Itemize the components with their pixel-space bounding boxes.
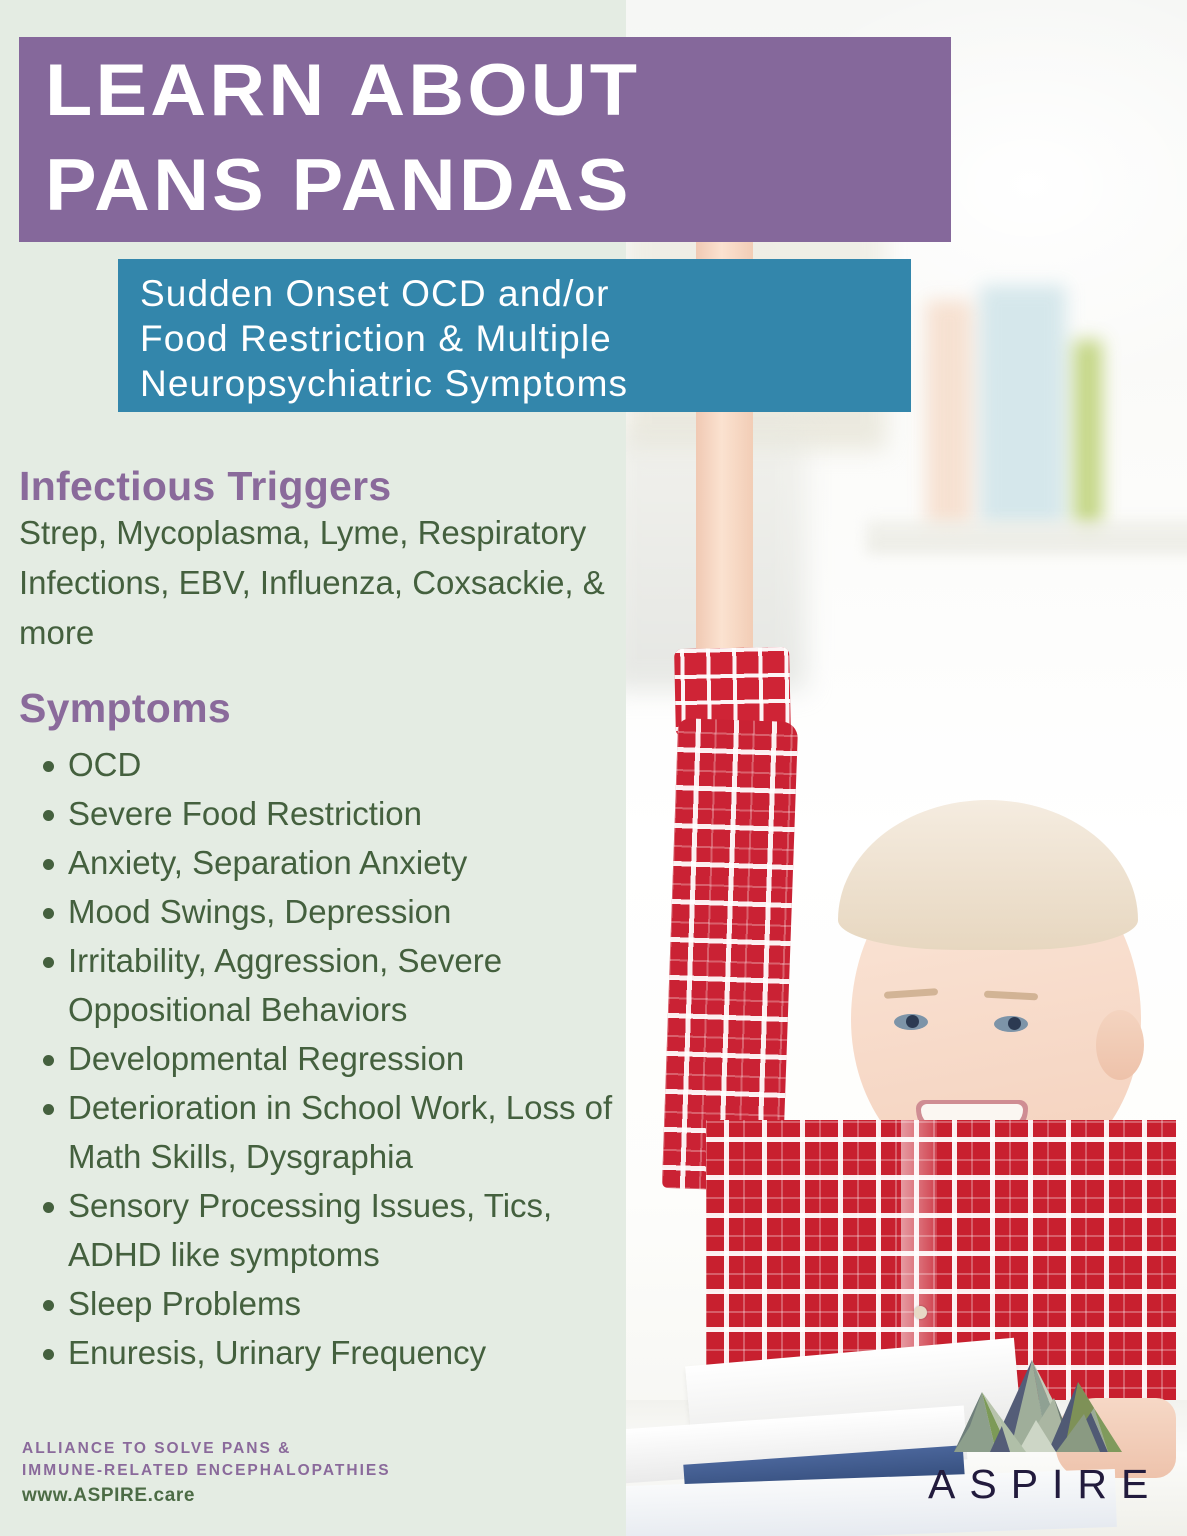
- aspire-logo: ASPIRE: [928, 1352, 1168, 1522]
- list-item: Anxiety, Separation Anxiety: [26, 838, 626, 887]
- low-poly-mountain-icon: [936, 1352, 1136, 1457]
- list-item: OCD: [26, 740, 626, 789]
- subtitle-line-1: Sudden Onset OCD and/or: [140, 271, 911, 316]
- list-item: Severe Food Restriction: [26, 789, 626, 838]
- poster: LEARN ABOUT PANS PANDAS Sudden Onset OCD…: [0, 0, 1187, 1536]
- list-item: Enuresis, Urinary Frequency: [26, 1328, 626, 1377]
- list-item: Developmental Regression: [26, 1034, 626, 1083]
- subtitle-banner: Sudden Onset OCD and/or Food Restriction…: [118, 259, 911, 412]
- hair-front: [838, 800, 1138, 950]
- symptoms-heading: Symptoms: [19, 684, 231, 732]
- symptoms-list: OCD Severe Food Restriction Anxiety, Sep…: [26, 740, 626, 1377]
- title-line-2: PANS PANDAS: [45, 138, 1005, 233]
- ear: [1096, 1010, 1144, 1080]
- footer-org-line-2: Immune-Related Encephalopathies: [22, 1460, 391, 1482]
- subtitle-line-2: Food Restriction & Multiple: [140, 316, 911, 361]
- list-item: Deterioration in School Work, Loss of Ma…: [26, 1083, 626, 1181]
- list-item: Mood Swings, Depression: [26, 887, 626, 936]
- pupil-right: [1008, 1017, 1021, 1030]
- list-item: Sensory Processing Issues, Tics, ADHD li…: [26, 1181, 626, 1279]
- title-banner: LEARN ABOUT PANS PANDAS: [19, 37, 951, 242]
- footer-org-line-1: Alliance to Solve PANS &: [22, 1438, 391, 1460]
- shirt-button: [914, 1306, 927, 1319]
- footer: Alliance to Solve PANS & Immune-Related …: [22, 1438, 391, 1508]
- footer-website-url[interactable]: www.ASPIRE.care: [22, 1483, 391, 1508]
- pupil-left: [906, 1015, 919, 1028]
- subtitle-line-3: Neuropsychiatric Symptoms: [140, 361, 911, 406]
- aspire-wordmark: ASPIRE: [928, 1460, 1162, 1508]
- infectious-triggers-body: Strep, Mycoplasma, Lyme, Respiratory Inf…: [19, 508, 609, 658]
- list-item: Irritability, Aggression, Severe Opposit…: [26, 936, 626, 1034]
- infectious-triggers-heading: Infectious Triggers: [19, 462, 392, 510]
- title-line-1: LEARN ABOUT: [45, 43, 1005, 138]
- list-item: Sleep Problems: [26, 1279, 626, 1328]
